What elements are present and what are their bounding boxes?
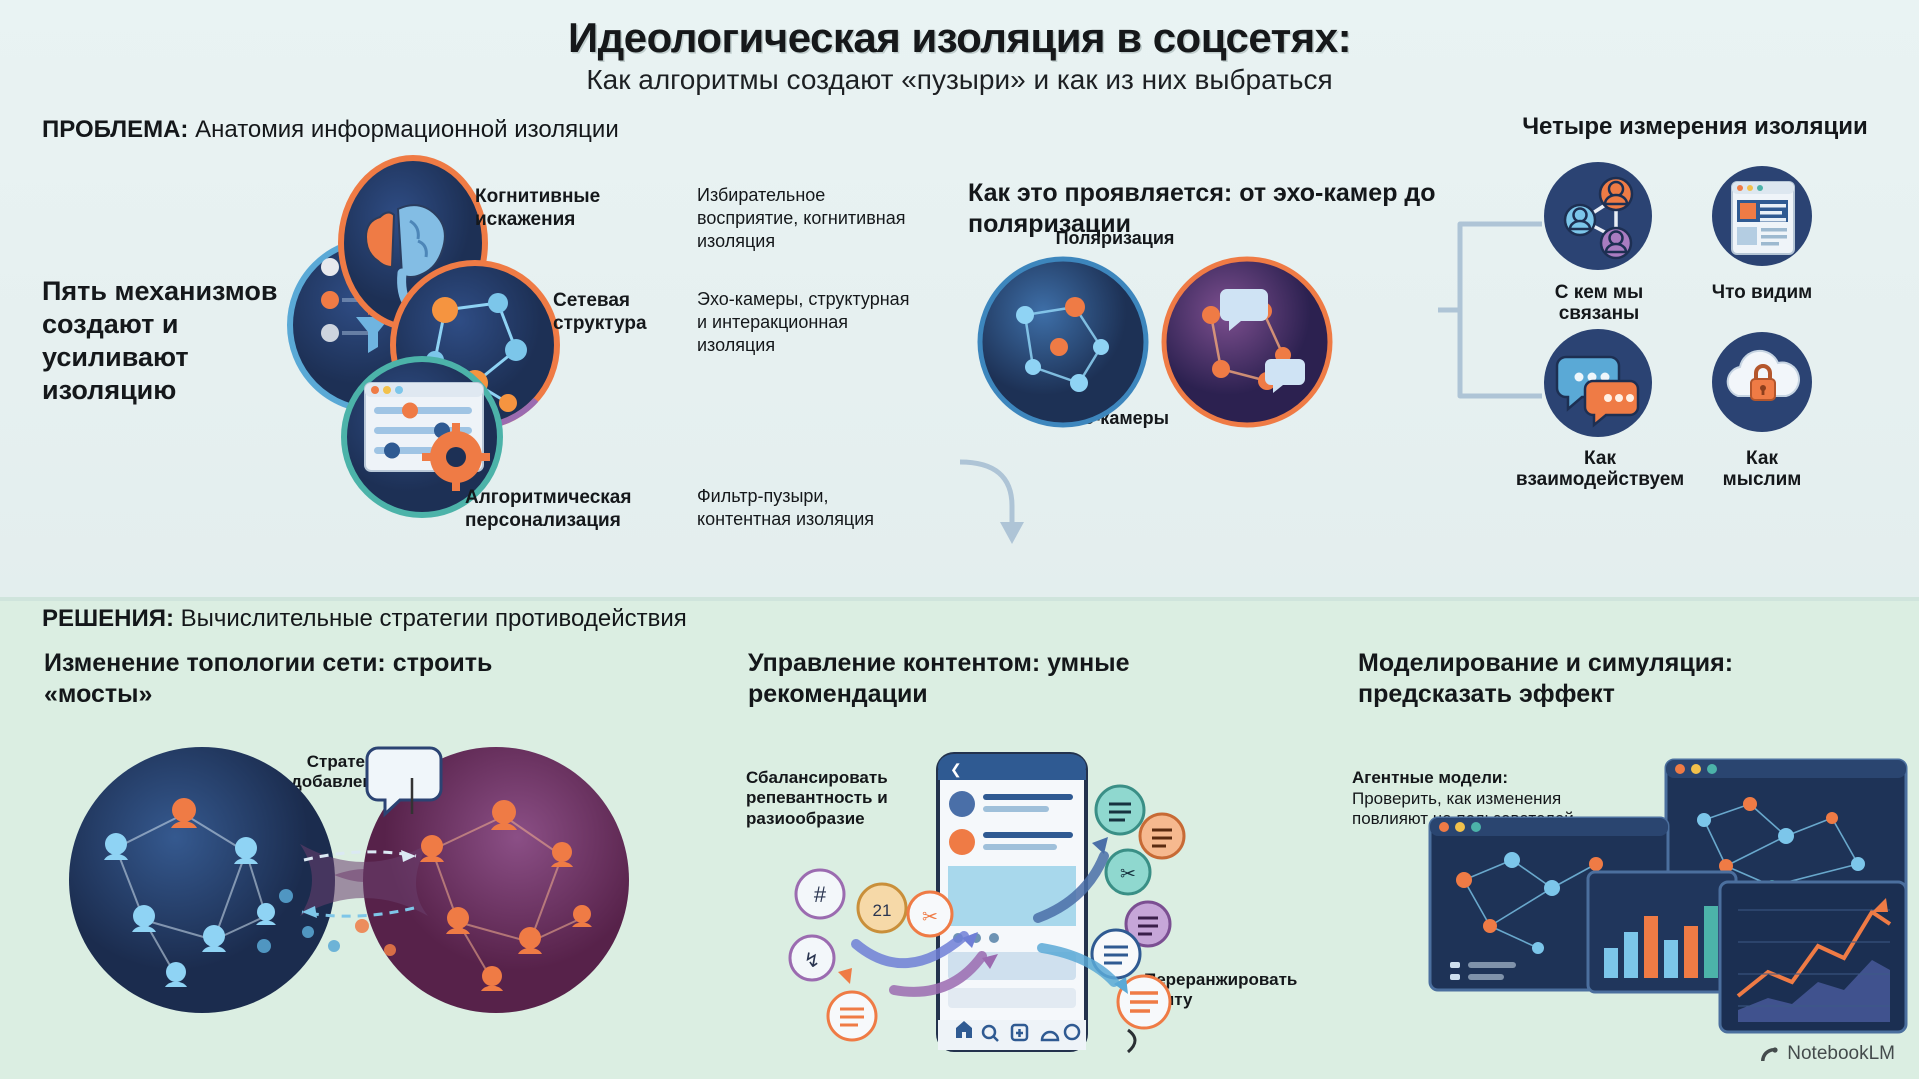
solution-title-1: Управление контентом: умные рекомендации [748, 648, 1188, 709]
caption-polarization: Поляризация [1015, 228, 1215, 249]
content-curation-graphic: ❮ # ↯ 21 ✂ [790, 748, 1210, 1058]
dimension-label-0: С кем мы связаны [1540, 282, 1658, 325]
dimension-label-1: Что видим [1706, 282, 1818, 303]
page-subtitle: Как алгоритмы создают «пузыри» и как из … [0, 64, 1919, 96]
mechanism-name-0: Когнитивные искажения [475, 186, 625, 232]
solutions-label-bold: РЕШЕНИЯ: [42, 605, 174, 632]
problem-lead-text: Пять механизмов создают и усиливают изол… [42, 275, 292, 407]
dimensions-title: Четыре измерения изоляции [1480, 113, 1910, 141]
watermark: NotebookLM [1758, 1043, 1895, 1065]
polarization-graphic [975, 255, 1395, 430]
svg-text:21: 21 [873, 901, 892, 920]
flow-arrow-down [960, 452, 1090, 552]
svg-text:✂: ✂ [1120, 864, 1136, 885]
mechanism-name-2: Алгоритмическая персонализация [465, 487, 665, 533]
section-divider [0, 597, 1919, 601]
solution-title-0: Изменение топологии сети: строить «мосты… [44, 648, 564, 709]
solutions-label-rest: Вычислительные стратегии противодействия [174, 605, 687, 632]
simulation-dashboards-graphic [1420, 760, 1910, 1060]
people-network-icon [1542, 160, 1654, 272]
notebooklm-icon [1758, 1043, 1780, 1065]
watermark-text: NotebookLM [1787, 1043, 1895, 1065]
svg-text:❮: ❮ [950, 761, 962, 778]
page-title: Идеологическая изоляция в соцсетях: [0, 14, 1919, 62]
infographic-canvas: Идеологическая изоляция в соцсетях: Как … [0, 0, 1919, 1079]
chat-bubbles-icon [1542, 327, 1654, 439]
problem-section-label: ПРОБЛЕМА: Анатомия информационной изоляц… [42, 116, 619, 144]
browser-feed-icon [1710, 164, 1814, 268]
dimension-label-3: Как мыслим [1706, 448, 1818, 491]
mechanism-name-1: Сетевая структура [553, 290, 703, 336]
svg-text:↯: ↯ [804, 950, 821, 972]
mechanism-effect-0: Избирательное восприятие, когнитивная из… [697, 184, 922, 253]
solutions-section-label: РЕШЕНИЯ: Вычислительные стратегии против… [42, 605, 687, 633]
svg-text:✂: ✂ [922, 907, 938, 928]
solution-title-2: Моделирование и симуляция: предсказать э… [1358, 648, 1828, 709]
mechanism-effect-2: Фильтр-пузыри, контентная изоляция [697, 485, 912, 531]
dimension-label-2: Как взаимодействуем [1510, 448, 1690, 491]
svg-text:#: # [814, 882, 827, 907]
problem-label-rest: Анатомия информационной изоляции [188, 116, 618, 143]
mechanism-effect-1: Эхо-камеры, структурная и интеракционная… [697, 288, 912, 357]
cloud-lock-icon [1710, 330, 1814, 434]
problem-label-bold: ПРОБЛЕМА: [42, 116, 188, 143]
dimensions-connector [1438, 180, 1548, 440]
network-bridge-graphic [34, 740, 674, 1050]
